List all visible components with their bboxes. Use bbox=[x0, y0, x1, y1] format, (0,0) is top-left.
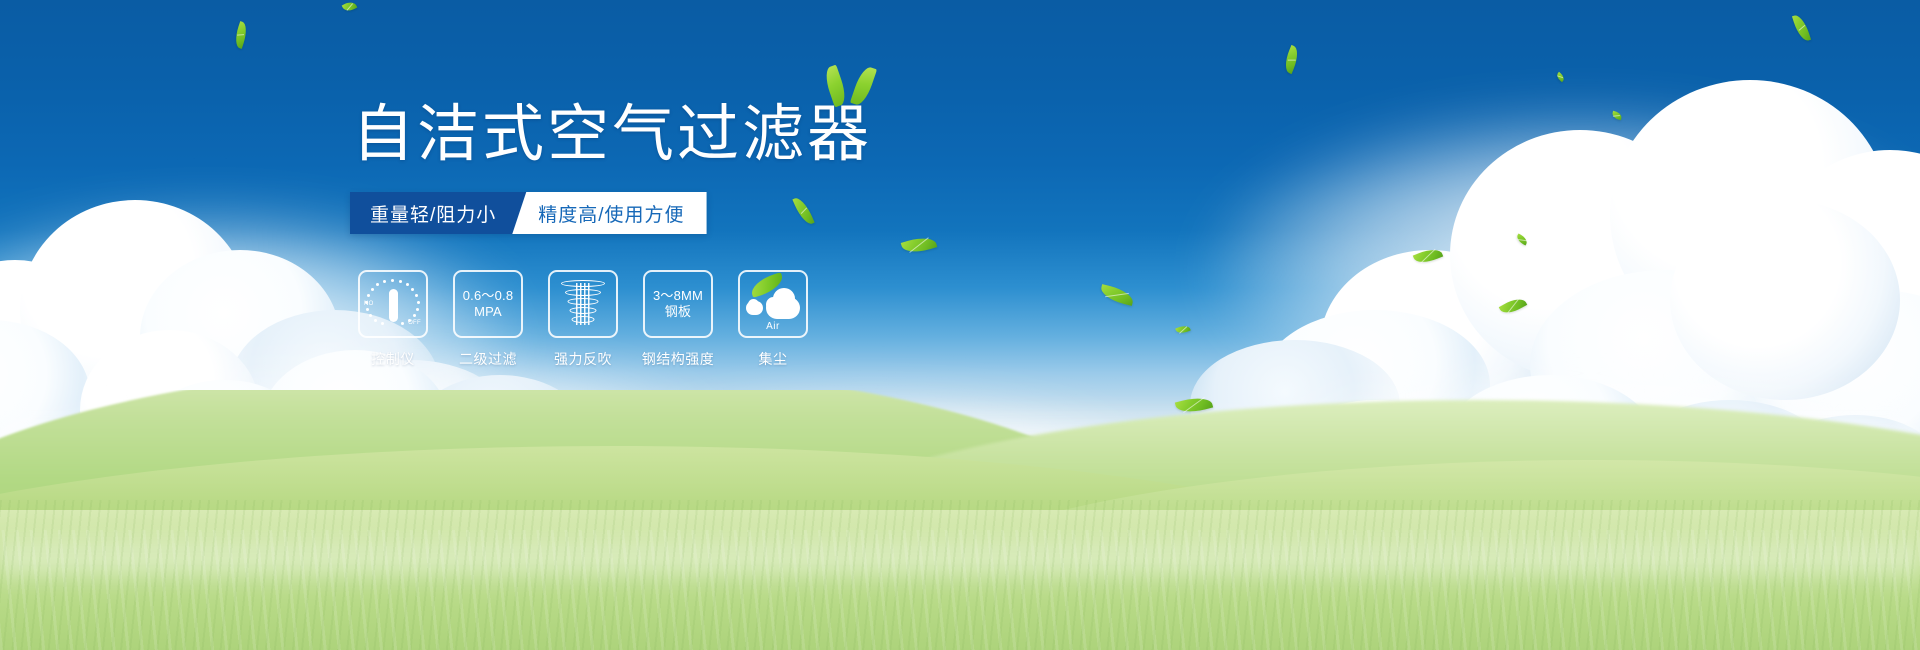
subtitle-left: 重量轻/阻力小 bbox=[350, 192, 526, 234]
steel-plate-icon: 3～8MM 钢板 bbox=[653, 288, 703, 321]
air-label: Air bbox=[744, 321, 802, 332]
feature-icon-box: NO OFF bbox=[358, 270, 428, 338]
feature-item-filtration[interactable]: 0.6～0.8 MPA 二级过滤 bbox=[453, 270, 523, 369]
backflush-icon bbox=[560, 279, 606, 329]
subtitle-right: 精度高/使用方便 bbox=[512, 192, 706, 234]
air-cloud-icon: Air bbox=[744, 279, 802, 329]
feature-caption: 二级过滤 bbox=[459, 349, 517, 369]
feature-list: NO OFF 控制仪 0.6～0.8 MPA 二级过滤 bbox=[358, 270, 808, 369]
page-title: 自洁式空气过滤器 bbox=[352, 104, 872, 166]
feature-caption: 钢结构强度 bbox=[642, 349, 715, 369]
subtitle-bar: 重量轻/阻力小 精度高/使用方便 bbox=[350, 192, 707, 234]
feature-item-dust[interactable]: Air 集尘 bbox=[738, 270, 808, 369]
feature-icon-box bbox=[548, 270, 618, 338]
feature-icon-box: 0.6～0.8 MPA bbox=[453, 270, 523, 338]
sprout-leaves-icon bbox=[822, 66, 882, 110]
banner-hero: 自洁式空气过滤器 重量轻/阻力小 精度高/使用方便 bbox=[0, 0, 1920, 650]
gauge-label-on: NO bbox=[364, 301, 374, 307]
feature-caption: 控制仪 bbox=[371, 349, 415, 369]
feature-item-steel[interactable]: 3～8MM 钢板 钢结构强度 bbox=[643, 270, 713, 369]
title-block: 自洁式空气过滤器 bbox=[352, 104, 872, 166]
feature-caption: 强力反吹 bbox=[554, 349, 612, 369]
feature-icon-box: 3～8MM 钢板 bbox=[643, 270, 713, 338]
feature-item-controller[interactable]: NO OFF 控制仪 bbox=[358, 270, 428, 369]
feature-icon-box: Air bbox=[738, 270, 808, 338]
pressure-icon: 0.6～0.8 MPA bbox=[463, 288, 514, 321]
feature-item-backflush[interactable]: 强力反吹 bbox=[548, 270, 618, 369]
gauge-label-off: OFF bbox=[408, 320, 421, 326]
grass-field bbox=[0, 390, 1920, 650]
feature-caption: 集尘 bbox=[759, 349, 788, 369]
gauge-icon: NO OFF bbox=[365, 277, 421, 331]
